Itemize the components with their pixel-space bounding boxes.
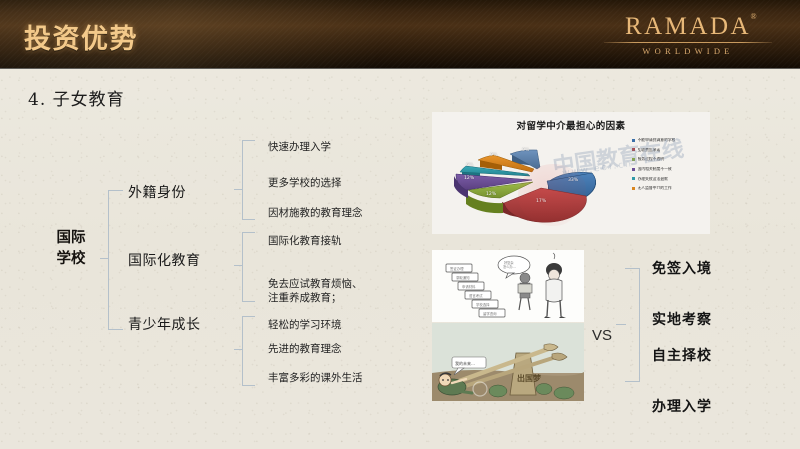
- pie-chart-legend: 不能申请到满意的学校 乱收费乱承诺 服务过程不透明 国内相关制度不一致 办理失败…: [632, 138, 710, 196]
- svg-text:录取通知: 录取通知: [456, 275, 470, 280]
- svg-text:申请材料: 申请材料: [462, 284, 476, 289]
- tree-root-line-2: 学校: [40, 249, 102, 270]
- pie-chart-svg: [440, 136, 630, 231]
- legend-label-5: 办理失败没法退款: [638, 177, 668, 181]
- logo-wordmark: RAMADA ®: [625, 14, 751, 39]
- pie-label-3: 12%: [486, 192, 496, 197]
- tree-branch-1-bracket: [242, 140, 255, 220]
- legend-swatch-icon: [632, 187, 635, 190]
- legend-item-3: 服务过程不透明: [632, 157, 710, 161]
- legend-swatch-icon: [632, 148, 635, 151]
- pie-label-1: 33%: [568, 178, 578, 183]
- tree-leaf-2-1: 国际化教育接轨: [268, 234, 342, 248]
- legend-swatch-icon: [632, 168, 635, 171]
- cartoon-speech-text: 我的未来…: [455, 360, 475, 366]
- legend-label-2: 乱收费乱承诺: [638, 148, 661, 152]
- right-list-item-2: 实地考察: [652, 309, 712, 329]
- cartoon-image-steps: 签证办理 录取通知 申请材料 语言考试 学校选择 留学咨询 好复杂 怎么办…: [432, 250, 584, 322]
- svg-text:学校选择: 学校选择: [476, 302, 490, 307]
- tree-branch-2-bracket: [242, 232, 255, 302]
- right-list-item-4: 办理入学: [652, 396, 712, 416]
- tree-leaf-3-1: 轻松的学习环境: [268, 318, 342, 332]
- legend-label-3: 服务过程不透明: [638, 157, 665, 161]
- svg-text:语言考试: 语言考试: [469, 293, 483, 298]
- tree-branch-3-bracket: [242, 316, 255, 386]
- tree-leaf-1-3: 因材施教的教育理念: [268, 206, 363, 220]
- ramada-logo: RAMADA ® WORLDWIDE: [598, 14, 778, 56]
- section-heading: 4. 子女教育: [28, 85, 125, 110]
- pie-label-5: 6%: [466, 163, 473, 168]
- tree-branch-label-2: 国际化教育: [128, 250, 201, 270]
- slide-header-bar: 投资优势 RAMADA ® WORLDWIDE: [0, 0, 800, 68]
- svg-text:留学咨询: 留学咨询: [483, 311, 497, 316]
- pie-label-6: 9%: [490, 153, 497, 158]
- svg-text:出国梦: 出国梦: [517, 373, 542, 383]
- page-title: 投资优势: [24, 17, 138, 56]
- tree-root-node: 国际 学校: [40, 228, 102, 270]
- right-list-item-1: 免签入境: [652, 258, 712, 278]
- legend-item-6: 无人监督中介的工作: [632, 186, 710, 190]
- cartoon-steps-svg: 签证办理 录取通知 申请材料 语言考试 学校选择 留学咨询 好复杂 怎么办…: [432, 250, 584, 322]
- legend-label-4: 国内相关制度不一致: [638, 167, 672, 171]
- pie-label-2: 17%: [536, 199, 546, 204]
- legend-label-6: 无人监督中介的工作: [638, 186, 672, 190]
- pie-chart-plot: 33% 17% 12% 12% 6% 9% 9%: [440, 136, 630, 231]
- pie-label-4: 12%: [464, 176, 474, 181]
- tree-leaf-2-2: 免去应试教育烦恼、注重养成教育；: [268, 277, 363, 305]
- tree-branch-label-3: 青少年成长: [128, 314, 201, 334]
- tree-leaf-3-2: 先进的教育理念: [268, 342, 342, 356]
- legend-swatch-icon: [632, 177, 635, 180]
- tree-branch-label-1: 外籍身份: [128, 182, 186, 202]
- pie-chart-title: 对留学中介最担心的因素: [432, 118, 710, 132]
- right-list-bracket: [625, 268, 640, 382]
- cartoon-seesaw-svg: 出国梦 我的未来…: [432, 323, 584, 401]
- tree-root-line-1: 国际: [40, 228, 102, 249]
- legend-item-1: 不能申请到满意的学校: [632, 138, 710, 142]
- tree-leaf-1-1: 快速办理入学: [268, 140, 331, 154]
- svg-text:签证办理: 签证办理: [450, 266, 464, 271]
- logo-wordmark-text: RAMADA: [625, 13, 751, 40]
- tree-leaf-3-3: 丰富多彩的课外生活: [268, 371, 363, 385]
- tree-root-bracket-stem: [100, 258, 109, 259]
- pie-chart-image: 对留学中介最担心的因素: [432, 112, 710, 234]
- right-list-item-3: 自主择校: [652, 345, 712, 365]
- slide-canvas: 投资优势 RAMADA ® WORLDWIDE 4. 子女教育 国际 学校 外籍…: [0, 0, 800, 449]
- cartoon-image-seesaw: 出国梦 我的未来…: [432, 323, 584, 401]
- tree-root-bracket: [108, 190, 123, 330]
- vs-label: VS: [592, 327, 612, 344]
- tree-branch-1-stem: [234, 189, 243, 190]
- logo-tagline: WORLDWIDE: [598, 46, 778, 56]
- logo-divider: [604, 42, 772, 43]
- logo-trademark-icon: ®: [750, 13, 759, 21]
- legend-swatch-icon: [632, 158, 635, 161]
- tree-branch-2-stem: [234, 265, 243, 266]
- svg-text:怎么办…: 怎么办…: [503, 264, 516, 269]
- pie-label-7: 9%: [522, 148, 529, 153]
- tree-leaf-1-2: 更多学校的选择: [268, 176, 342, 190]
- legend-label-1: 不能申请到满意的学校: [638, 138, 676, 142]
- legend-item-4: 国内相关制度不一致: [632, 167, 710, 171]
- legend-item-5: 办理失败没法退款: [632, 177, 710, 181]
- legend-swatch-icon: [632, 139, 635, 142]
- tree-branch-3-stem: [234, 349, 243, 350]
- legend-item-2: 乱收费乱承诺: [632, 148, 710, 152]
- right-list-bracket-stem: [616, 324, 626, 325]
